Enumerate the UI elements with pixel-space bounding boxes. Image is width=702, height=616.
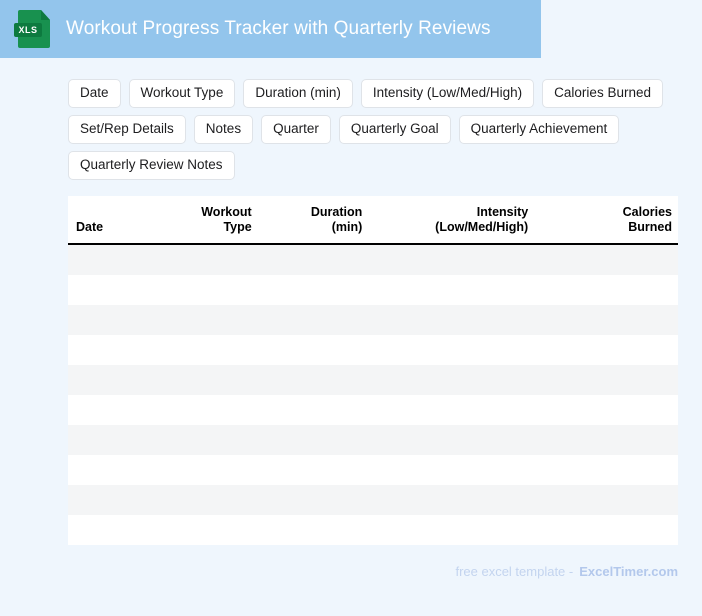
table-cell[interactable] bbox=[368, 275, 534, 305]
table-cell[interactable] bbox=[534, 515, 678, 545]
table-row[interactable] bbox=[68, 275, 678, 305]
table-column-header-line2: Type bbox=[159, 220, 252, 235]
column-chip[interactable]: Date bbox=[68, 79, 121, 108]
table-cell[interactable] bbox=[68, 244, 153, 275]
table-column-header: Duration(min) bbox=[258, 196, 369, 244]
table-cell[interactable] bbox=[534, 275, 678, 305]
table-row[interactable] bbox=[68, 305, 678, 335]
table-cell[interactable] bbox=[68, 455, 153, 485]
table-cell[interactable] bbox=[368, 455, 534, 485]
xls-file-icon: XLS bbox=[18, 10, 50, 48]
table-cell[interactable] bbox=[534, 395, 678, 425]
table-cell[interactable] bbox=[153, 485, 258, 515]
table-cell[interactable] bbox=[258, 244, 369, 275]
table-cell[interactable] bbox=[153, 395, 258, 425]
table-cell[interactable] bbox=[534, 365, 678, 395]
table-column-header: WorkoutType bbox=[153, 196, 258, 244]
column-chip[interactable]: Quarterly Review Notes bbox=[68, 151, 235, 180]
table-cell[interactable] bbox=[258, 305, 369, 335]
table-cell[interactable] bbox=[534, 335, 678, 365]
table-cell[interactable] bbox=[153, 244, 258, 275]
table-row[interactable] bbox=[68, 244, 678, 275]
table-cell[interactable] bbox=[368, 335, 534, 365]
table-cell[interactable] bbox=[534, 244, 678, 275]
table-cell[interactable] bbox=[68, 425, 153, 455]
table-cell[interactable] bbox=[368, 244, 534, 275]
table-column-header-line1: Date bbox=[76, 220, 147, 235]
table-cell[interactable] bbox=[68, 275, 153, 305]
table-cell[interactable] bbox=[368, 305, 534, 335]
column-chip[interactable]: Intensity (Low/Med/High) bbox=[361, 79, 534, 108]
table-cell[interactable] bbox=[153, 335, 258, 365]
table-cell[interactable] bbox=[68, 395, 153, 425]
table-cell[interactable] bbox=[368, 485, 534, 515]
table-cell[interactable] bbox=[68, 365, 153, 395]
table-column-header-line2: Burned bbox=[540, 220, 672, 235]
table-cell[interactable] bbox=[368, 515, 534, 545]
table-header: DateWorkoutTypeDuration(min)Intensity(Lo… bbox=[68, 196, 678, 244]
table-cell[interactable] bbox=[258, 365, 369, 395]
table-cell[interactable] bbox=[368, 395, 534, 425]
table-cell[interactable] bbox=[68, 515, 153, 545]
table-cell[interactable] bbox=[534, 305, 678, 335]
table-body bbox=[68, 244, 678, 545]
table-column-header-line2: (min) bbox=[264, 220, 363, 235]
table-header-row: DateWorkoutTypeDuration(min)Intensity(Lo… bbox=[68, 196, 678, 244]
table-column-header-line1: Calories bbox=[540, 205, 672, 220]
column-chip[interactable]: Quarterly Achievement bbox=[459, 115, 620, 144]
table-cell[interactable] bbox=[68, 305, 153, 335]
table-column-header-line1: Intensity bbox=[374, 205, 528, 220]
table-column-header: CaloriesBurned bbox=[534, 196, 678, 244]
column-chip[interactable]: Duration (min) bbox=[243, 79, 353, 108]
footer-lead-text: free excel template - bbox=[455, 564, 573, 579]
table-cell[interactable] bbox=[258, 515, 369, 545]
table-row[interactable] bbox=[68, 395, 678, 425]
table-cell[interactable] bbox=[534, 485, 678, 515]
table-column-header: Intensity(Low/Med/High) bbox=[368, 196, 534, 244]
table-cell[interactable] bbox=[258, 485, 369, 515]
table-row[interactable] bbox=[68, 365, 678, 395]
table-cell[interactable] bbox=[258, 335, 369, 365]
table-row[interactable] bbox=[68, 485, 678, 515]
table-cell[interactable] bbox=[68, 485, 153, 515]
table-cell[interactable] bbox=[534, 455, 678, 485]
table-cell[interactable] bbox=[258, 455, 369, 485]
table-row[interactable] bbox=[68, 455, 678, 485]
data-table-container: DateWorkoutTypeDuration(min)Intensity(Lo… bbox=[68, 196, 678, 545]
table-cell[interactable] bbox=[153, 305, 258, 335]
table-column-header-line2: (Low/Med/High) bbox=[374, 220, 528, 235]
table-cell[interactable] bbox=[258, 425, 369, 455]
column-chip[interactable]: Quarter bbox=[261, 115, 331, 144]
column-chip[interactable]: Workout Type bbox=[129, 79, 236, 108]
xls-icon-label: XLS bbox=[14, 23, 42, 37]
table-cell[interactable] bbox=[368, 425, 534, 455]
column-chip-list: DateWorkout TypeDuration (min)Intensity … bbox=[68, 79, 684, 180]
table-column-header-line1: Duration bbox=[264, 205, 363, 220]
table-row[interactable] bbox=[68, 515, 678, 545]
table-row[interactable] bbox=[68, 335, 678, 365]
footer-brand-link[interactable]: ExcelTimer.com bbox=[579, 564, 678, 579]
column-chip[interactable]: Quarterly Goal bbox=[339, 115, 451, 144]
workout-progress-table: DateWorkoutTypeDuration(min)Intensity(Lo… bbox=[68, 196, 678, 545]
table-cell[interactable] bbox=[368, 365, 534, 395]
column-chip[interactable]: Notes bbox=[194, 115, 253, 144]
table-cell[interactable] bbox=[153, 275, 258, 305]
table-cell[interactable] bbox=[153, 365, 258, 395]
footer-attribution: free excel template -ExcelTimer.com bbox=[455, 564, 678, 579]
table-column-header: Date bbox=[68, 196, 153, 244]
table-cell[interactable] bbox=[68, 335, 153, 365]
table-cell[interactable] bbox=[534, 425, 678, 455]
table-cell[interactable] bbox=[153, 515, 258, 545]
table-cell[interactable] bbox=[258, 395, 369, 425]
table-cell[interactable] bbox=[153, 425, 258, 455]
title-banner: XLS Workout Progress Tracker with Quarte… bbox=[0, 0, 541, 58]
table-row[interactable] bbox=[68, 425, 678, 455]
page-title: Workout Progress Tracker with Quarterly … bbox=[66, 18, 491, 40]
column-chip[interactable]: Set/Rep Details bbox=[68, 115, 186, 144]
table-cell[interactable] bbox=[153, 455, 258, 485]
column-chip[interactable]: Calories Burned bbox=[542, 79, 663, 108]
table-cell[interactable] bbox=[258, 275, 369, 305]
table-column-header-line1: Workout bbox=[159, 205, 252, 220]
